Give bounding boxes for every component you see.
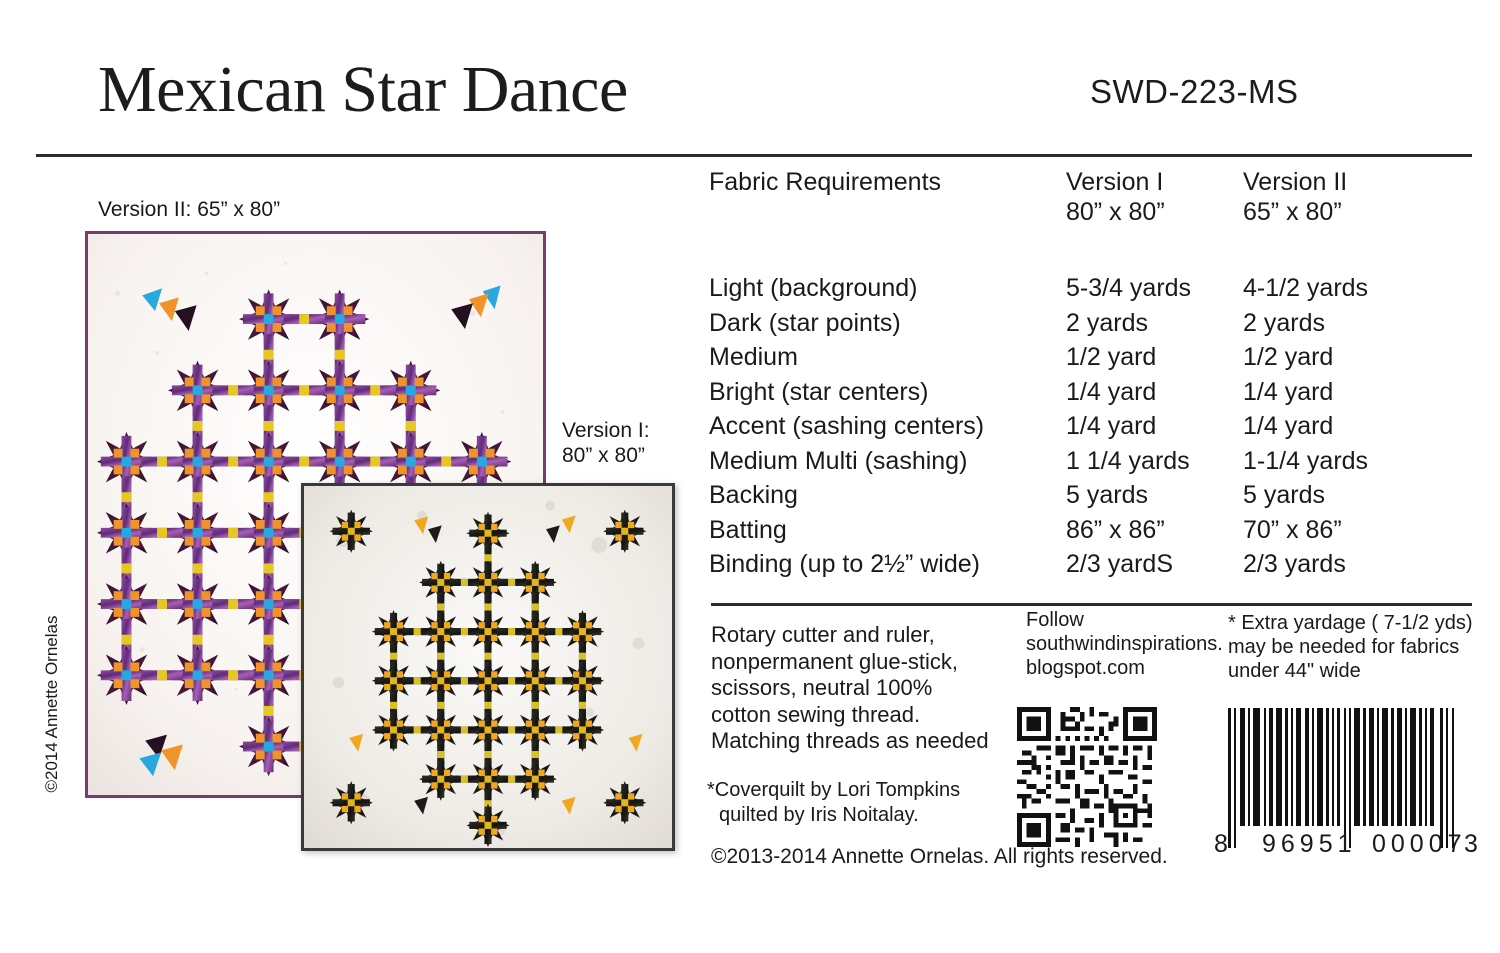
page-title: Mexican Star Dance — [98, 52, 628, 128]
column-header-version-2: Version II — [1243, 168, 1347, 197]
version-one-caption: Version I: 80” x 80” — [562, 418, 650, 468]
table-row: Medium 1/2 yard 1/2 yard — [709, 343, 1499, 378]
coverquilt-credit-line1: *Coverquilt by Lori Tompkins — [707, 778, 1037, 803]
supplies-line: nonpermanent glue-stick, — [711, 649, 1021, 676]
fabric-amount-v1: 1/4 yard — [1066, 412, 1156, 441]
fabric-amount-v2: 70” x 86” — [1243, 516, 1342, 545]
qr-code-svg — [1017, 707, 1157, 847]
fabric-table-title: Fabric Requirements — [709, 168, 941, 197]
barcode-digit-left: 8 — [1214, 830, 1228, 859]
table-row: Batting 86” x 86” 70” x 86” — [709, 516, 1499, 551]
coverquilt-credit-line2: quilted by Iris Noitalay. — [707, 803, 1037, 828]
supplies-line: scissors, neutral 100% — [711, 675, 1021, 702]
fabric-amount-v1: 2 yards — [1066, 309, 1148, 338]
column-size-version-2: 65” x 80” — [1243, 198, 1342, 227]
supplies-line: Rotary cutter and ruler, — [711, 622, 1021, 649]
copyright-notice: ©2013-2014 Annette Ornelas. All rights r… — [711, 845, 1168, 869]
barcode-group-left: 96951 — [1262, 830, 1357, 859]
fabric-label: Medium Multi (sashing) — [709, 447, 967, 476]
table-row: Binding (up to 2½” wide) 2/3 yardS 2/3 y… — [709, 550, 1499, 585]
fabric-amount-v2: 2 yards — [1243, 309, 1325, 338]
header-divider — [36, 154, 1472, 157]
sku-code: SWD-223-MS — [1090, 73, 1299, 111]
fabric-label: Bright (star centers) — [709, 378, 929, 407]
version-two-caption: Version II: 65” x 80” — [98, 198, 280, 222]
barcode-digit-right: 3 — [1464, 830, 1478, 859]
fabric-amount-v2: 1/4 yard — [1243, 378, 1333, 407]
version-one-quilt-art — [304, 486, 672, 848]
version-one-caption-line1: Version I: — [562, 418, 650, 443]
coverquilt-credit: *Coverquilt by Lori Tompkins quilted by … — [707, 778, 1037, 828]
fabric-amount-v1: 1/4 yard — [1066, 378, 1156, 407]
barcode-digits: 8 96951 00007 3 — [1212, 828, 1482, 858]
extra-yardage-line: under 44" wide — [1228, 659, 1490, 683]
fabric-amount-v2: 5 yards — [1243, 481, 1325, 510]
follow-label: Follow — [1026, 608, 1216, 632]
barcode-bars — [1212, 708, 1482, 838]
fabric-label: Accent (sashing centers) — [709, 412, 984, 441]
fabric-label: Light (background) — [709, 274, 917, 303]
fabric-amount-v2: 2/3 yards — [1243, 550, 1346, 579]
fabric-amount-v1: 1 1/4 yards — [1066, 447, 1190, 476]
follow-url-part2[interactable]: blogspot.com — [1026, 656, 1216, 680]
table-row: Accent (sashing centers) 1/4 yard 1/4 ya… — [709, 412, 1499, 447]
fabric-label: Backing — [709, 481, 798, 510]
column-header-version-1: Version I — [1066, 168, 1163, 197]
fabric-amount-v1: 2/3 yardS — [1066, 550, 1173, 579]
supplies-line: Matching threads as needed — [711, 728, 1021, 755]
fabric-amount-v2: 1/2 yard — [1243, 343, 1333, 372]
table-row: Medium Multi (sashing) 1 1/4 yards 1-1/4… — [709, 447, 1499, 482]
barcode-group-right: 00007 — [1372, 830, 1467, 859]
fabric-table-body: Light (background) 5-3/4 yards 4-1/2 yar… — [709, 274, 1499, 585]
version-one-caption-line2: 80” x 80” — [562, 443, 650, 468]
fabric-amount-v2: 1-1/4 yards — [1243, 447, 1368, 476]
fabric-amount-v1: 5 yards — [1066, 481, 1148, 510]
fabric-amount-v1: 1/2 yard — [1066, 343, 1156, 372]
fabric-table-header: Fabric Requirements Version I Version II… — [709, 168, 1499, 228]
section-divider — [711, 603, 1472, 606]
fabric-amount-v1: 86” x 86” — [1066, 516, 1165, 545]
table-row: Backing 5 yards 5 yards — [709, 481, 1499, 516]
fabric-label: Medium — [709, 343, 798, 372]
table-row: Light (background) 5-3/4 yards 4-1/2 yar… — [709, 274, 1499, 309]
table-row: Bright (star centers) 1/4 yard 1/4 yard — [709, 378, 1499, 413]
extra-yardage-note: * Extra yardage ( 7-1/2 yds) may be need… — [1228, 611, 1490, 683]
fabric-amount-v1: 5-3/4 yards — [1066, 274, 1191, 303]
fabric-label: Binding (up to 2½” wide) — [709, 550, 980, 579]
follow-blog-block: Follow southwindinspirations. blogspot.c… — [1026, 608, 1216, 680]
pattern-back-cover: Mexican Star Dance SWD-223-MS Version II… — [0, 0, 1500, 953]
fabric-label: Dark (star points) — [709, 309, 901, 338]
supplies-list: Rotary cutter and ruler, nonpermanent gl… — [711, 622, 1021, 755]
upc-barcode: 8 96951 00007 3 — [1212, 708, 1482, 868]
fabric-label: Batting — [709, 516, 787, 545]
supplies-line: cotton sewing thread. — [711, 702, 1021, 729]
follow-url-part1[interactable]: southwindinspirations. — [1026, 632, 1216, 656]
fabric-requirements-table: Fabric Requirements Version I Version II… — [709, 168, 1499, 228]
extra-yardage-line: * Extra yardage ( 7-1/2 yds) — [1228, 611, 1490, 635]
fabric-amount-v2: 1/4 yard — [1243, 412, 1333, 441]
table-row: Dark (star points) 2 yards 2 yards — [709, 309, 1499, 344]
version-one-quilt-photo — [301, 483, 675, 851]
column-size-version-1: 80” x 80” — [1066, 198, 1165, 227]
qr-code-icon[interactable] — [1017, 707, 1157, 847]
fabric-amount-v2: 4-1/2 yards — [1243, 274, 1368, 303]
vertical-copyright: ©2014 Annette Ornelas — [42, 604, 62, 804]
extra-yardage-line: may be needed for fabrics — [1228, 635, 1490, 659]
